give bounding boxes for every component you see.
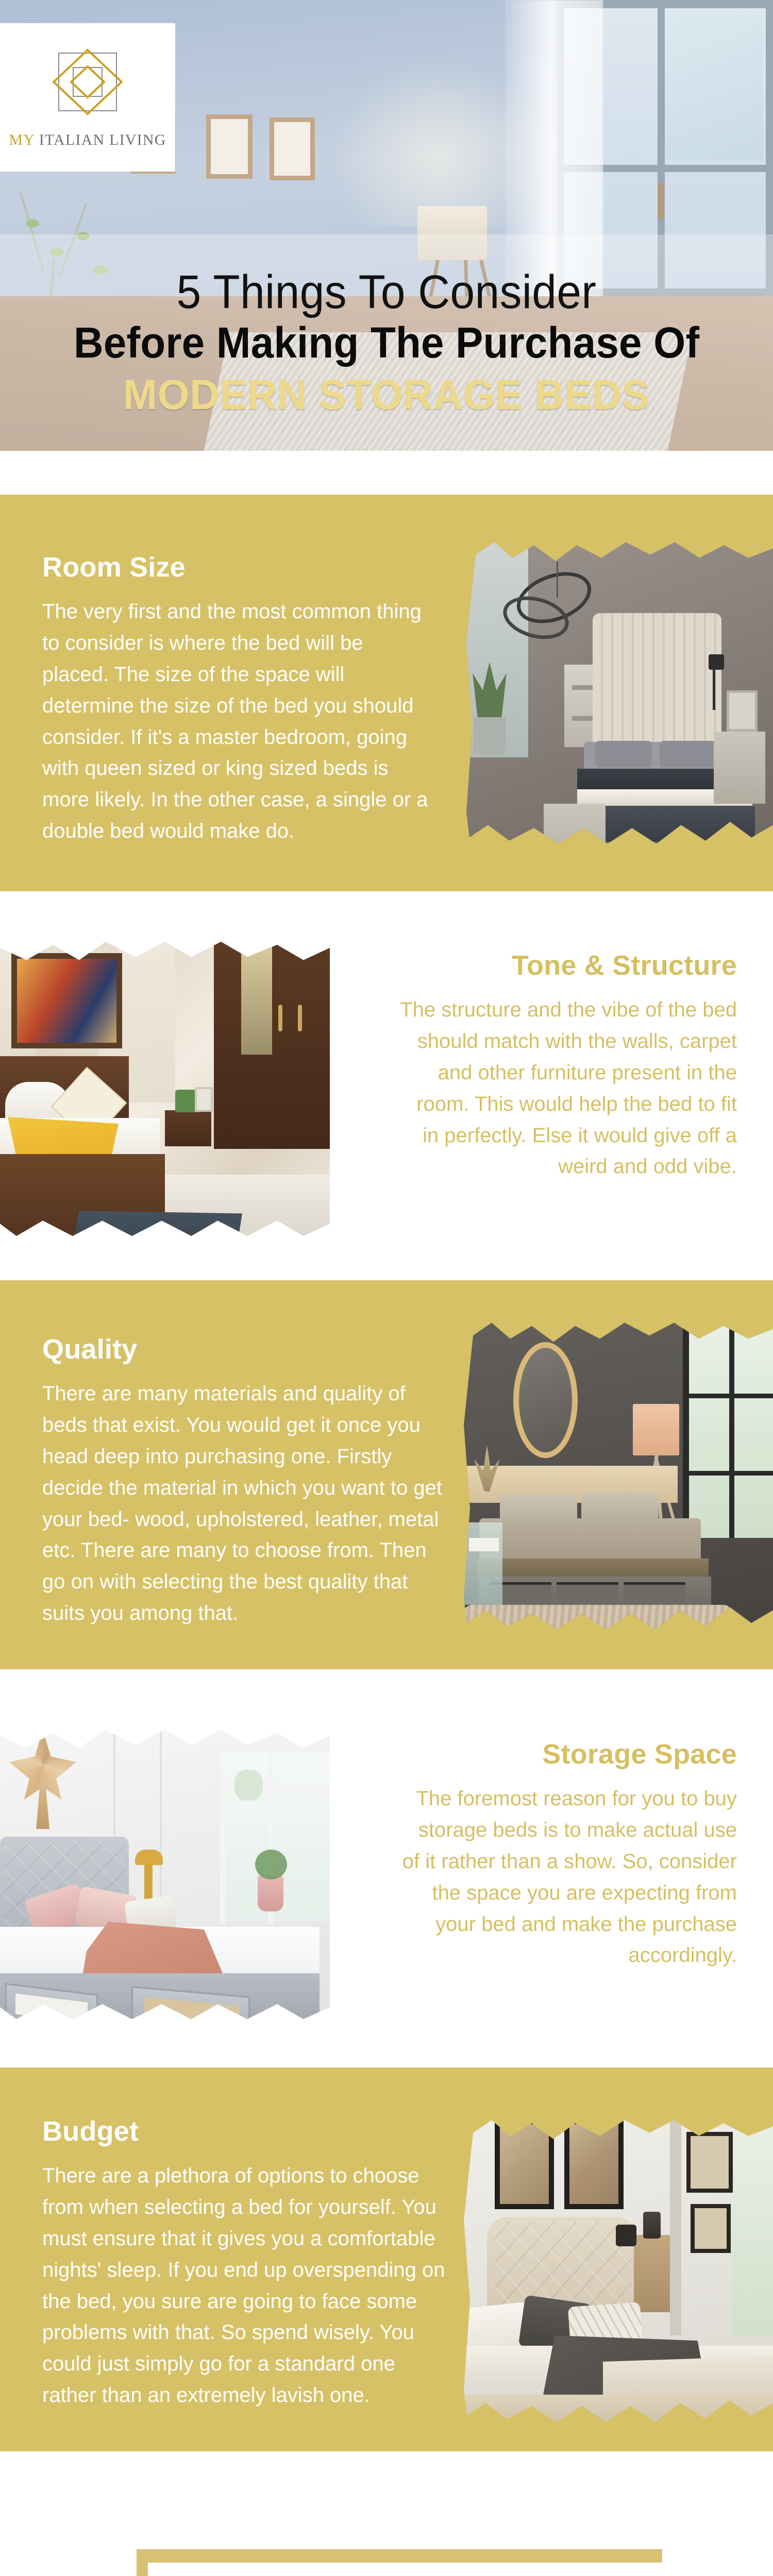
wall-art-frame: [686, 2132, 733, 2193]
budget-photo: [464, 2114, 773, 2428]
brand-logo[interactable]: MY ITALIAN LIVING: [0, 23, 175, 172]
section-body: The foremost reason for you to buy stora…: [397, 1783, 737, 1971]
rug: [72, 1211, 242, 1239]
section-title: Storage Space: [397, 1739, 737, 1770]
table-lamp-icon: [643, 2212, 661, 2239]
vase-icon: [258, 1875, 283, 1911]
wall-lamp-icon: [709, 654, 724, 670]
wall-art-frame: [564, 2119, 624, 2209]
footer-bracket-top: [137, 2549, 662, 2563]
oval-mirror-icon: [513, 1342, 578, 1458]
bed-base: [464, 2395, 773, 2428]
section-body: There are a plethora of options to choos…: [42, 2160, 455, 2411]
wall-art-frame: [206, 114, 253, 179]
hero-title-line-2: Before Making The Purchase Of: [74, 319, 699, 366]
spacer: [0, 1239, 773, 1280]
spacer: [0, 451, 773, 495]
quality-photo: [464, 1316, 773, 1636]
storage-space-photo: [0, 1721, 330, 2022]
side-table: [634, 2235, 670, 2312]
spacer: [0, 1669, 773, 1700]
hero-title-line-3: MODERN STORAGE BEDS: [123, 372, 650, 418]
rug: [0, 2019, 155, 2022]
brand-logo-text: MY ITALIAN LIVING: [9, 131, 166, 149]
wall-art-frame: [495, 2119, 554, 2209]
section-quality: Quality There are many materials and qua…: [0, 1280, 773, 1669]
hero-banner: MY ITALIAN LIVING 5 Things To Consider B…: [0, 0, 773, 451]
section-title: Quality: [42, 1334, 449, 1365]
section-room-size: Room Size The very first and the most co…: [0, 495, 773, 891]
footer: www.myitalianliving.com: [0, 2451, 773, 2576]
spacer: [0, 2022, 773, 2067]
rug: [464, 1605, 732, 1636]
section-body: The structure and the vibe of the bed sh…: [397, 994, 737, 1182]
section-tone-structure: Tone & Structure The structure and the v…: [0, 922, 773, 1239]
room-size-photo: [466, 536, 773, 850]
section-title: Tone & Structure: [397, 951, 737, 981]
section-title: Room Size: [42, 552, 449, 583]
window-graphic: [732, 2114, 773, 2335]
tone-structure-photo: [0, 933, 330, 1239]
floor-lamp-icon: [633, 1404, 679, 1455]
diamond-square-logo-icon: [46, 46, 129, 128]
brand-logo-my: MY: [9, 131, 35, 148]
hero-title-line-1: 5 Things To Consider: [177, 267, 597, 318]
section-budget: Budget There are a plethora of options t…: [0, 2067, 773, 2451]
section-body: There are many materials and quality of …: [42, 1378, 449, 1629]
brand-logo-rest: ITALIAN LIVING: [35, 131, 166, 148]
wall-art-frame: [270, 117, 315, 180]
section-title: Budget: [42, 2116, 449, 2147]
hero-title-block: 5 Things To Consider Before Making The P…: [0, 234, 773, 451]
bed-headboard: [593, 613, 721, 750]
footer-bracket-left: [137, 2549, 148, 2576]
section-body: The very first and the most common thing…: [42, 596, 434, 846]
wall-art-frame: [11, 953, 122, 1048]
section-storage-space: Storage Space The foremost reason for yo…: [0, 1700, 773, 2022]
spacer: [0, 891, 773, 922]
wall-art-frame: [691, 2204, 731, 2253]
